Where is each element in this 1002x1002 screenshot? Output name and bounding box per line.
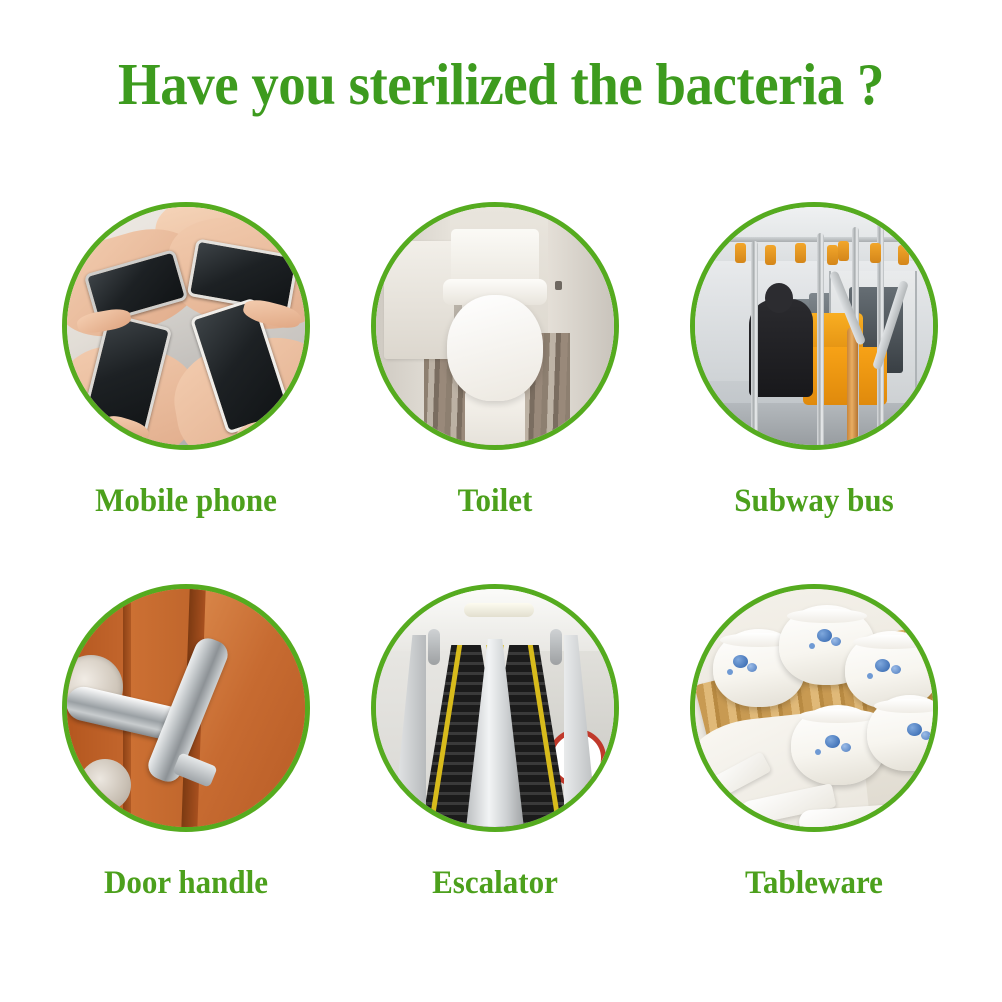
blue-flower-motif <box>891 665 901 674</box>
blue-flower-motif <box>815 749 821 755</box>
bowl-rim <box>874 699 933 713</box>
grab-pole <box>751 241 758 445</box>
grid-item-subway-bus[interactable]: Subway bus <box>647 202 981 584</box>
blue-flower-motif <box>867 673 873 679</box>
photo-subway-bus <box>690 202 938 450</box>
item-label-escalator: Escalator <box>338 865 652 902</box>
poster-canvas: Have you sterilized the bacteria ? <box>0 0 1002 1002</box>
blue-flower-motif <box>921 731 931 740</box>
photo-escalator <box>371 584 619 832</box>
orange-pole <box>847 327 858 445</box>
door-face <box>197 589 305 827</box>
grid-item-escalator[interactable]: Escalator <box>328 584 662 966</box>
grab-pole <box>817 233 824 445</box>
handrail-end <box>550 629 562 665</box>
photo-door-handle <box>62 584 310 832</box>
grid-row-1: Mobile phone <box>0 202 1002 584</box>
side-balustrade <box>392 635 426 827</box>
grid-item-door-handle[interactable]: Door handle <box>19 584 353 966</box>
grid-item-toilet[interactable]: Toilet <box>328 202 662 584</box>
passenger-figure <box>749 299 813 397</box>
bowl-rim <box>787 609 868 623</box>
scene-tableware <box>695 589 933 827</box>
scene-toilet <box>376 207 614 445</box>
hanging-strap <box>765 245 776 265</box>
handle-rosette <box>79 759 131 811</box>
scene-subway-bus <box>695 207 933 445</box>
item-label-mobile-phone: Mobile phone <box>29 483 343 520</box>
photo-mobile-phone <box>62 202 310 450</box>
scene-escalator <box>376 589 614 827</box>
orange-seat <box>803 347 887 405</box>
item-label-toilet: Toilet <box>338 483 652 520</box>
item-label-door-handle: Door handle <box>29 865 343 902</box>
blue-flower-motif <box>875 659 890 672</box>
handrail-end <box>428 629 440 665</box>
toilet-bowl <box>447 295 543 401</box>
grid-row-2: Door handle <box>0 584 1002 966</box>
grid-item-tableware[interactable]: Tableware <box>647 584 981 966</box>
blue-flower-motif <box>841 743 851 752</box>
blue-flower-motif <box>733 655 748 668</box>
hanging-strap <box>898 245 909 265</box>
grid-item-mobile-phone[interactable]: Mobile phone <box>19 202 353 584</box>
ceramic-bowl <box>867 695 933 771</box>
car-floor <box>695 403 933 445</box>
blue-flower-motif <box>817 629 832 642</box>
hanging-strap <box>735 243 746 263</box>
item-label-subway-bus: Subway bus <box>657 483 971 520</box>
scene-mobile-phone <box>67 207 305 445</box>
blue-flower-motif <box>831 637 841 646</box>
hanging-strap <box>870 243 881 263</box>
blue-flower-motif <box>727 669 733 675</box>
item-grid: Mobile phone <box>0 202 1002 966</box>
bowl-rim <box>799 709 878 723</box>
blue-flower-motif <box>809 643 815 649</box>
bowl-rim <box>853 635 932 649</box>
flush-button-icon <box>555 281 562 290</box>
hanging-strap <box>795 243 806 263</box>
overhead-bar <box>695 237 933 242</box>
item-label-tableware: Tableware <box>657 865 971 902</box>
blue-flower-motif <box>825 735 840 748</box>
photo-toilet <box>371 202 619 450</box>
photo-tableware <box>690 584 938 832</box>
blue-flower-motif <box>747 663 757 672</box>
ceiling-lamp <box>464 603 534 617</box>
hanging-strap <box>838 241 849 261</box>
page-title: Have you sterilized the bacteria ? <box>35 54 967 116</box>
scene-door-handle <box>67 589 305 827</box>
hanging-strap <box>827 245 838 265</box>
passenger-head <box>765 283 793 313</box>
blue-flower-motif <box>907 723 922 736</box>
